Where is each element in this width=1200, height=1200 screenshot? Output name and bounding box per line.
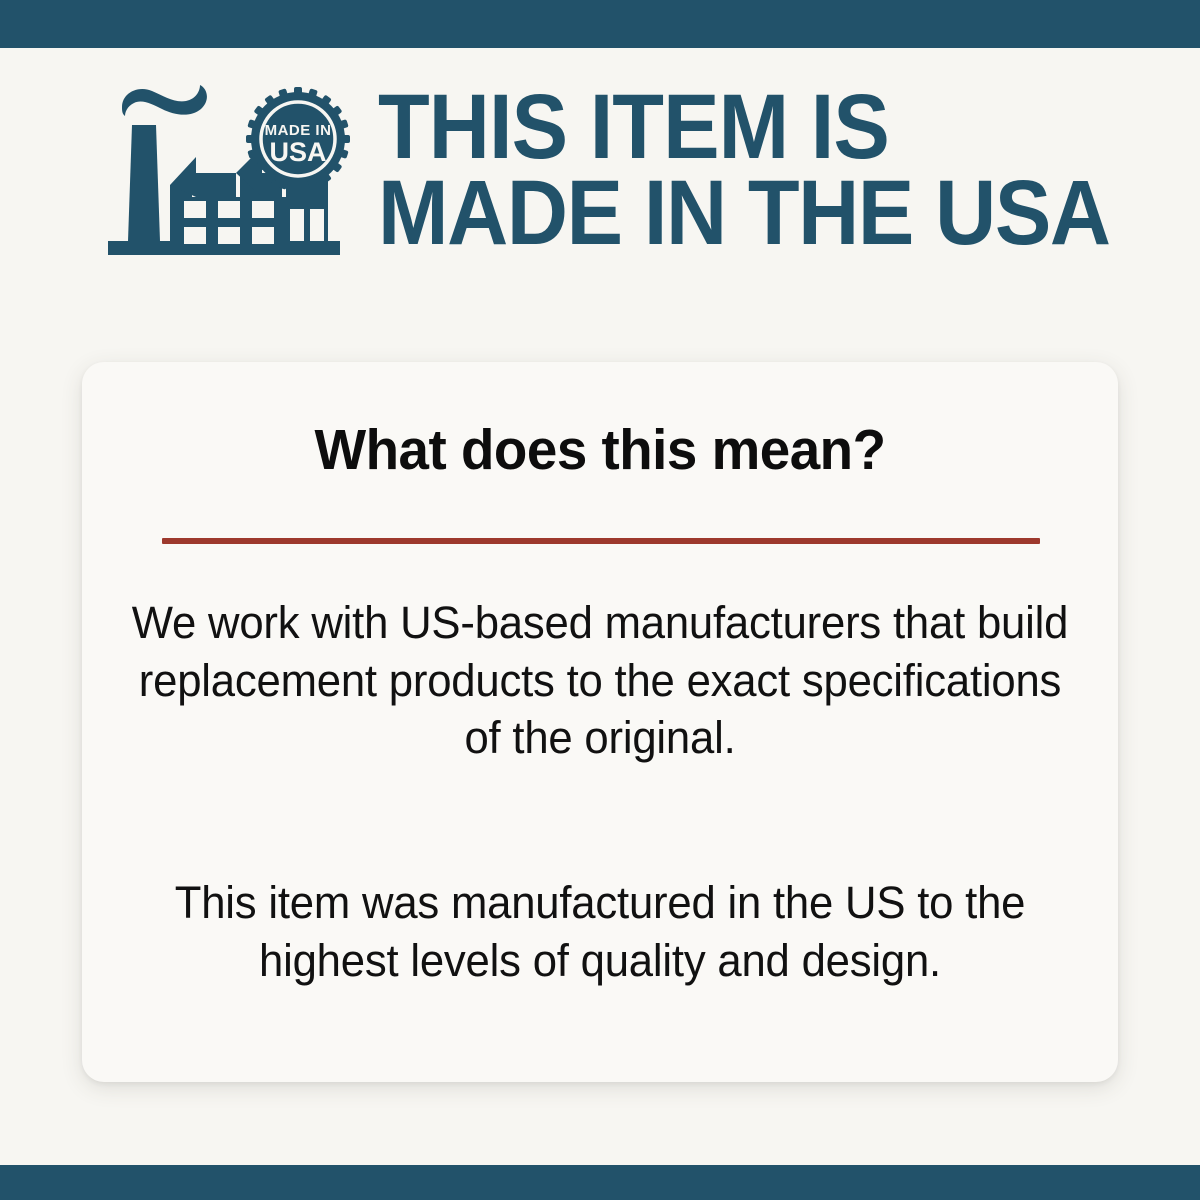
bottom-accent-bar (0, 1165, 1200, 1200)
card-paragraph-1: We work with US-based manufacturers that… (121, 594, 1079, 767)
info-card: What does this mean? We work with US-bas… (82, 362, 1118, 1082)
card-divider (162, 538, 1040, 544)
seal-line2: USA (269, 137, 326, 167)
title-line-1: THIS ITEM IS (378, 85, 1110, 171)
title-line-2: MADE IN THE USA (378, 171, 1110, 257)
top-accent-bar (0, 0, 1200, 48)
factory-icon: MADE IN USA (100, 81, 350, 266)
card-paragraph-2: This item was manufactured in the US to … (121, 874, 1079, 989)
page-title: THIS ITEM IS MADE IN THE USA (378, 85, 1173, 256)
card-heading: What does this mean? (103, 417, 1098, 483)
header: MADE IN USA THIS ITEM IS MADE IN THE USA (0, 48, 1200, 293)
